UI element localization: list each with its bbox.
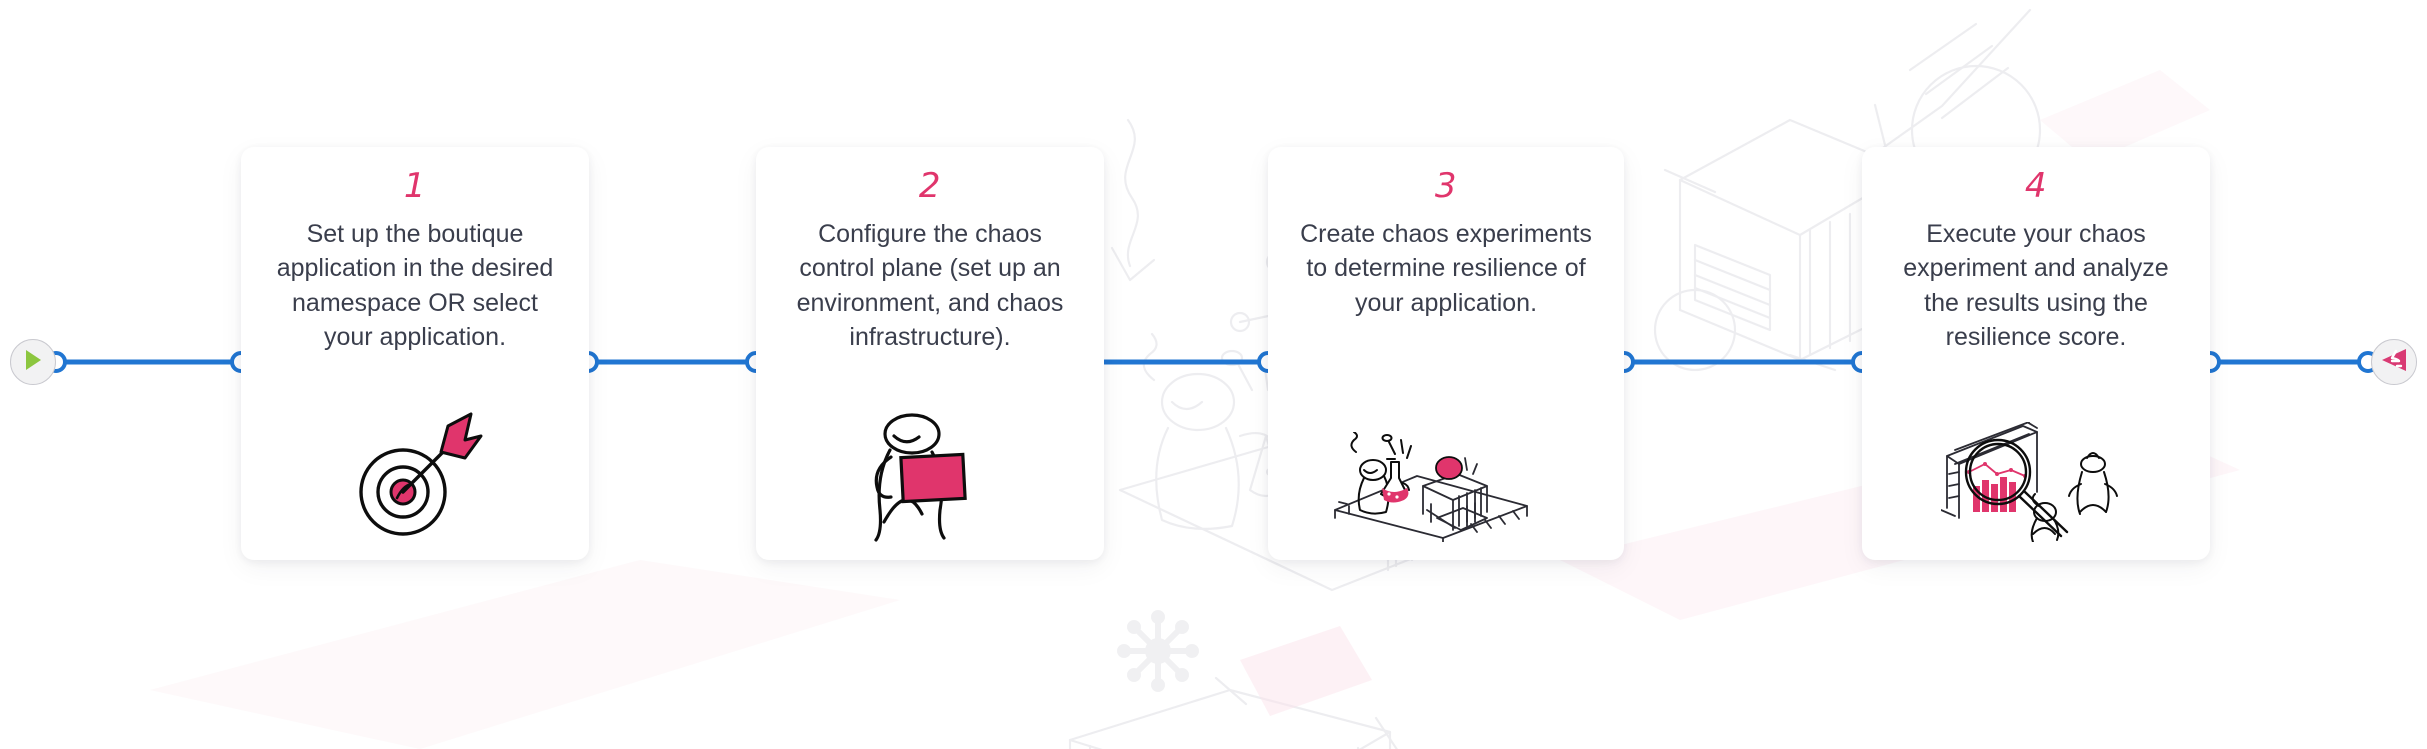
scientist-with-flask-and-blocks-icon [1286,432,1606,542]
step-number-2: 2 [919,169,941,203]
step-text-3: Create chaos experiments to determine re… [1296,217,1596,320]
step-card-3[interactable]: 3 Create chaos experiments to determine … [1268,147,1624,560]
magnifier-over-chart-icon [1880,422,2192,542]
step-text-1: Set up the boutique application in the d… [265,217,565,354]
play-triangle-icon [23,349,43,376]
end-node[interactable] [2371,339,2417,385]
step-text-4: Execute your chaos experiment and analyz… [1886,217,2186,354]
step-card-4[interactable]: 4 Execute your chaos experiment and anal… [1862,147,2210,560]
step-card-2[interactable]: 2 Configure the chaos control plane (set… [756,147,1104,560]
step-text-2: Configure the chaos control plane (set u… [780,217,1080,354]
litmus-chaos-logo-icon [2380,346,2408,379]
start-node[interactable] [10,339,56,385]
step-number-4: 4 [2025,169,2047,203]
person-holding-screen-icon [774,412,1086,542]
step-number-1: 1 [404,169,426,203]
step-number-3: 3 [1435,169,1457,203]
target-with-arrow-icon [259,412,571,542]
step-card-1[interactable]: 1 Set up the boutique application in the… [241,147,589,560]
